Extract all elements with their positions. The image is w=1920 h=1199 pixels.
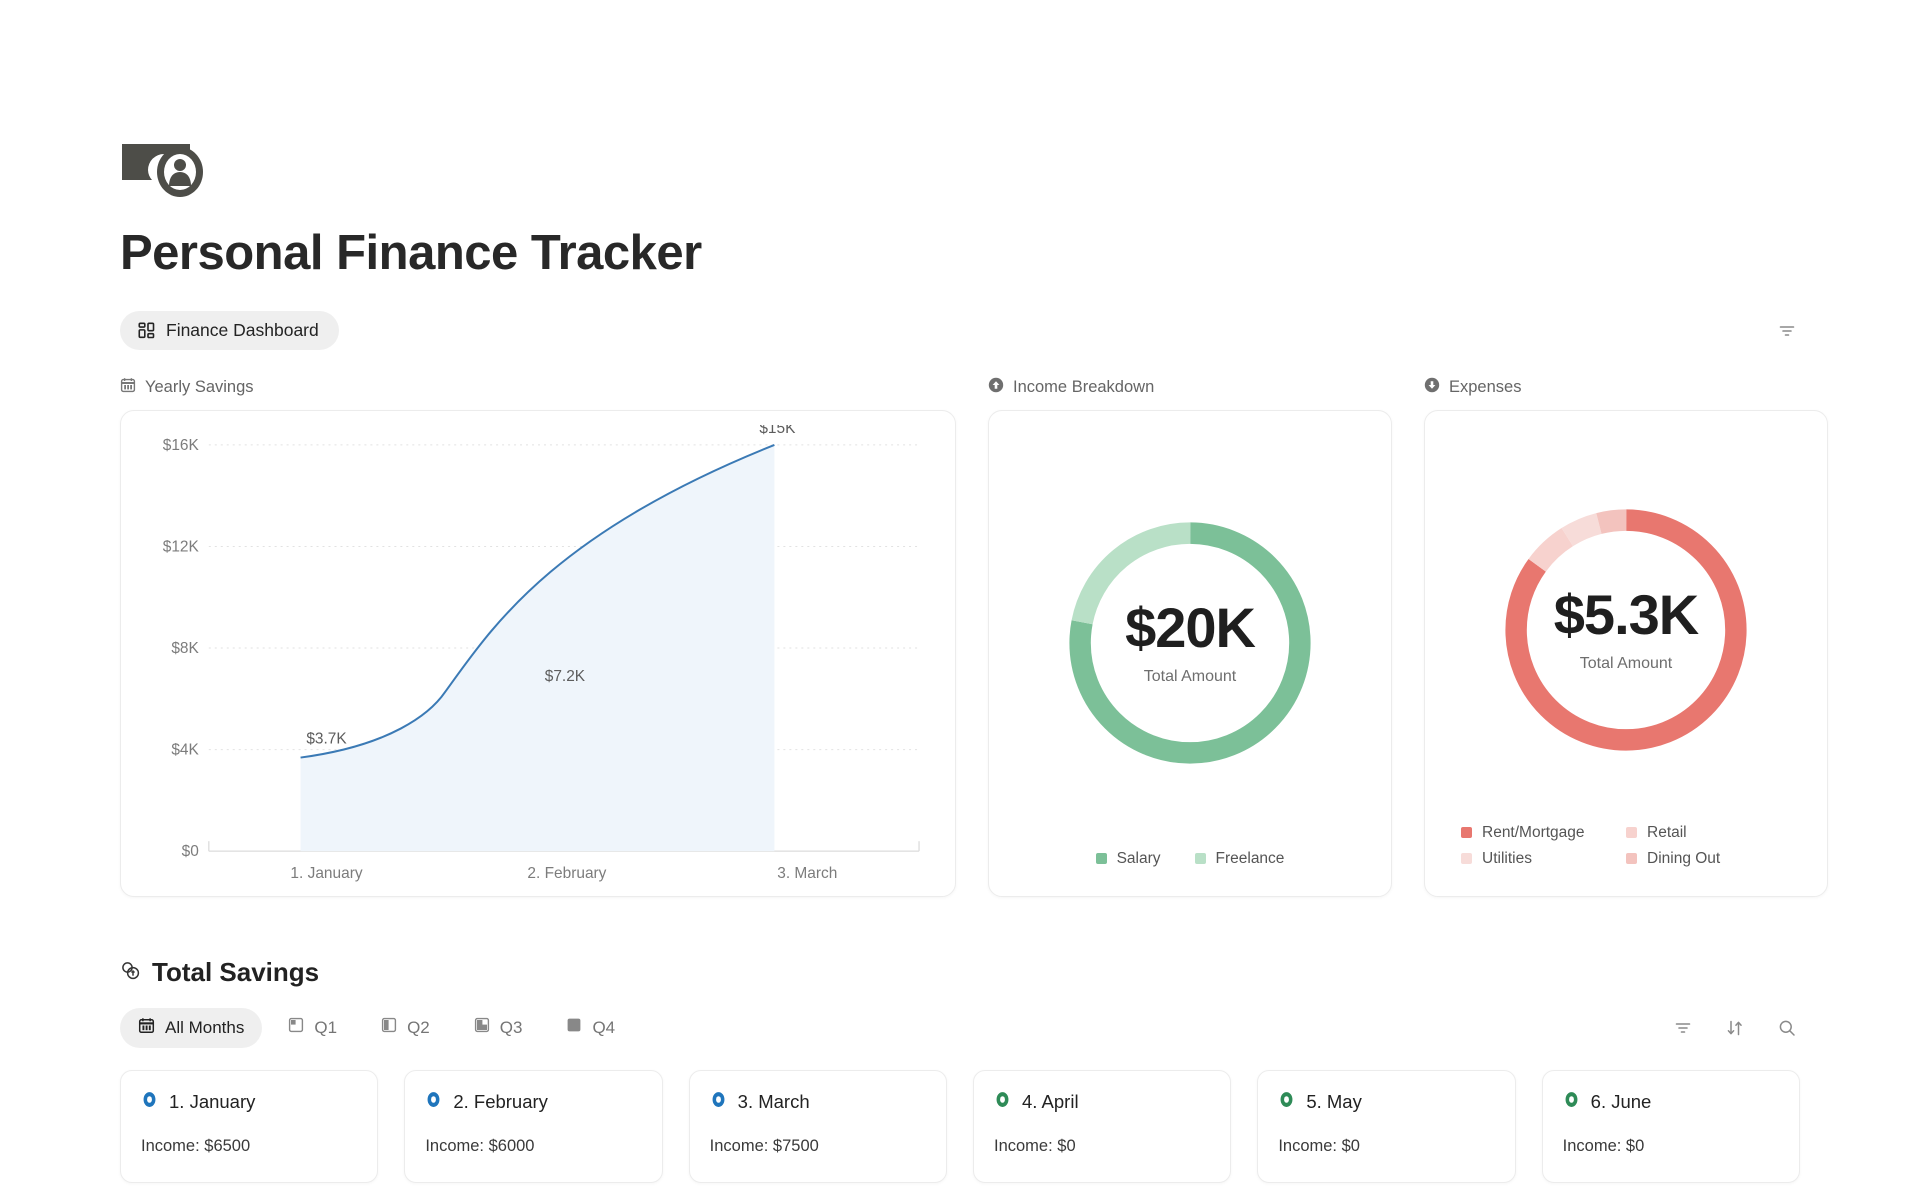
month-name: 5. May	[1306, 1091, 1362, 1113]
legend-item-rent-mortgage[interactable]: Rent/Mortgage	[1461, 824, 1626, 842]
dashboard-cards: Yearly Savings	[120, 377, 1800, 897]
xtick-january: 1. January	[290, 865, 362, 882]
arrow-down-circle-icon	[1424, 377, 1440, 398]
calendar-icon	[120, 377, 136, 398]
expenses-donut-wrap: $5.3K Total Amount	[1445, 437, 1807, 824]
month-income: Income: $6500	[141, 1137, 357, 1156]
ytick-16k: $16K	[163, 437, 200, 454]
ytick-12k: $12K	[163, 538, 200, 555]
xtick-march: 3. March	[777, 865, 837, 882]
list-item[interactable]: 6. June Income: $0	[1542, 1070, 1800, 1183]
tab-q2[interactable]: Q2	[363, 1008, 448, 1047]
list-item[interactable]: 3. March Income: $7500	[689, 1070, 947, 1183]
tab-label-q1: Q1	[314, 1018, 337, 1038]
legend-item-freelance[interactable]: Freelance	[1195, 850, 1285, 868]
total-savings-label: Total Savings	[152, 957, 319, 988]
list-tools	[1670, 1015, 1800, 1041]
month-income: Income: $0	[1563, 1137, 1779, 1156]
income-breakdown-label: Income Breakdown	[1013, 378, 1154, 397]
xtick-february: 2. February	[527, 865, 606, 882]
list-item[interactable]: 1. January Income: $6500	[120, 1070, 378, 1183]
legend-label-rent-mortgage: Rent/Mortgage	[1482, 824, 1585, 842]
list-item[interactable]: 2. February Income: $6000	[404, 1070, 662, 1183]
total-savings-toolbar: All Months Q1 Q2	[120, 1008, 1800, 1048]
filter-icon[interactable]	[1774, 318, 1800, 344]
income-breakdown-panel: Income Breakdown $20K Total Amount	[988, 377, 1392, 897]
tab-label-q2: Q2	[407, 1018, 430, 1038]
legend-label-retail: Retail	[1647, 824, 1687, 842]
month-income: Income: $6000	[425, 1137, 641, 1156]
calendar-icon	[138, 1017, 155, 1039]
month-name: 6. June	[1591, 1091, 1652, 1113]
quarter-2-icon	[381, 1017, 397, 1038]
month-income: Income: $7500	[710, 1137, 926, 1156]
legend-swatch-retail	[1626, 827, 1637, 838]
expenses-header: Expenses	[1424, 377, 1828, 399]
legend-label-utilities: Utilities	[1482, 850, 1532, 868]
ytick-0: $0	[182, 843, 199, 860]
month-card-header: 2. February	[425, 1091, 641, 1113]
status-ring-icon	[994, 1091, 1011, 1113]
income-legend: Salary Freelance	[1009, 850, 1371, 876]
quarter-1-icon	[288, 1017, 304, 1038]
expenses-donut-card[interactable]: $5.3K Total Amount Rent/Mortgage Retail	[1424, 410, 1828, 897]
month-card-grid: 1. January Income: $6500 2. February Inc…	[120, 1070, 1800, 1183]
legend-item-retail[interactable]: Retail	[1626, 824, 1791, 842]
tab-label-q4: Q4	[592, 1018, 615, 1038]
page-title: Personal Finance Tracker	[120, 226, 1800, 281]
yearly-savings-chart[interactable]: $16K $12K $8K $4K $0 1. January 2. Febru…	[120, 410, 956, 897]
money-person-icon	[120, 132, 224, 198]
expenses-legend: Rent/Mortgage Retail Utilities Dining Ou…	[1461, 824, 1791, 876]
list-item[interactable]: 4. April Income: $0	[973, 1070, 1231, 1183]
tab-finance-dashboard[interactable]: Finance Dashboard	[120, 311, 339, 350]
point-label-march: $15K	[759, 425, 796, 437]
status-ring-icon	[710, 1091, 727, 1113]
ytick-8k: $8K	[171, 640, 199, 657]
total-savings-heading: Total Savings	[120, 957, 1800, 988]
month-name: 1. January	[169, 1091, 255, 1113]
month-card-header: 4. April	[994, 1091, 1210, 1113]
quarter-tabs: All Months Q1 Q2	[120, 1008, 633, 1048]
legend-label-freelance: Freelance	[1216, 850, 1285, 868]
page-root: Personal Finance Tracker Finance Dashboa…	[0, 132, 1920, 1199]
tab-all-months[interactable]: All Months	[120, 1008, 262, 1048]
month-income: Income: $0	[994, 1137, 1210, 1156]
search-icon[interactable]	[1774, 1015, 1800, 1041]
legend-swatch-utilities	[1461, 853, 1472, 864]
tab-q3[interactable]: Q3	[456, 1008, 541, 1047]
month-card-header: 3. March	[710, 1091, 926, 1113]
legend-label-dining-out: Dining Out	[1647, 850, 1720, 868]
expenses-donut-chart	[1481, 485, 1771, 775]
month-name: 4. April	[1022, 1091, 1079, 1113]
income-donut-chart	[1045, 498, 1335, 788]
ytick-4k: $4K	[171, 741, 199, 758]
filter-icon[interactable]	[1670, 1015, 1696, 1041]
yearly-savings-panel: Yearly Savings	[120, 377, 956, 897]
legend-swatch-freelance	[1195, 853, 1206, 864]
legend-item-salary[interactable]: Salary	[1096, 850, 1161, 868]
tab-label: Finance Dashboard	[166, 320, 319, 341]
coins-icon	[120, 957, 141, 988]
tab-q1[interactable]: Q1	[270, 1008, 355, 1047]
point-label-february: $7.2K	[545, 668, 586, 685]
month-card-header: 5. May	[1278, 1091, 1494, 1113]
income-donut-wrap: $20K Total Amount	[1009, 437, 1371, 850]
legend-swatch-salary	[1096, 853, 1107, 864]
tab-label-all-months: All Months	[165, 1018, 244, 1038]
month-name: 3. March	[738, 1091, 810, 1113]
legend-swatch-rent-mortgage	[1461, 827, 1472, 838]
layout-grid-icon	[138, 322, 155, 339]
expenses-panel: Expenses $5.3K Total Amount	[1424, 377, 1828, 897]
status-ring-icon	[1563, 1091, 1580, 1113]
yearly-savings-label: Yearly Savings	[145, 378, 254, 397]
list-item[interactable]: 5. May Income: $0	[1257, 1070, 1515, 1183]
month-card-header: 1. January	[141, 1091, 357, 1113]
month-card-header: 6. June	[1563, 1091, 1779, 1113]
income-breakdown-header: Income Breakdown	[988, 377, 1392, 399]
arrow-up-circle-icon	[988, 377, 1004, 398]
expenses-label: Expenses	[1449, 378, 1521, 397]
status-ring-icon	[425, 1091, 442, 1113]
legend-item-dining-out[interactable]: Dining Out	[1626, 850, 1791, 868]
legend-label-salary: Salary	[1117, 850, 1161, 868]
savings-area-chart: $16K $12K $8K $4K $0 1. January 2. Febru…	[131, 425, 935, 886]
dashboard-tab-row: Finance Dashboard	[120, 311, 1800, 351]
quarter-3-icon	[474, 1017, 490, 1038]
quarter-4-icon	[566, 1017, 582, 1038]
yearly-savings-header: Yearly Savings	[120, 377, 956, 399]
month-name: 2. February	[453, 1091, 548, 1113]
income-donut-card[interactable]: $20K Total Amount Salary Freelance	[988, 410, 1392, 897]
legend-item-utilities[interactable]: Utilities	[1461, 850, 1626, 868]
legend-swatch-dining-out	[1626, 853, 1637, 864]
status-ring-icon	[141, 1091, 158, 1113]
month-income: Income: $0	[1278, 1137, 1494, 1156]
sort-icon[interactable]	[1722, 1015, 1748, 1041]
tab-label-q3: Q3	[500, 1018, 523, 1038]
point-label-january: $3.7K	[306, 731, 347, 748]
tab-q4[interactable]: Q4	[548, 1008, 633, 1047]
status-ring-icon	[1278, 1091, 1295, 1113]
